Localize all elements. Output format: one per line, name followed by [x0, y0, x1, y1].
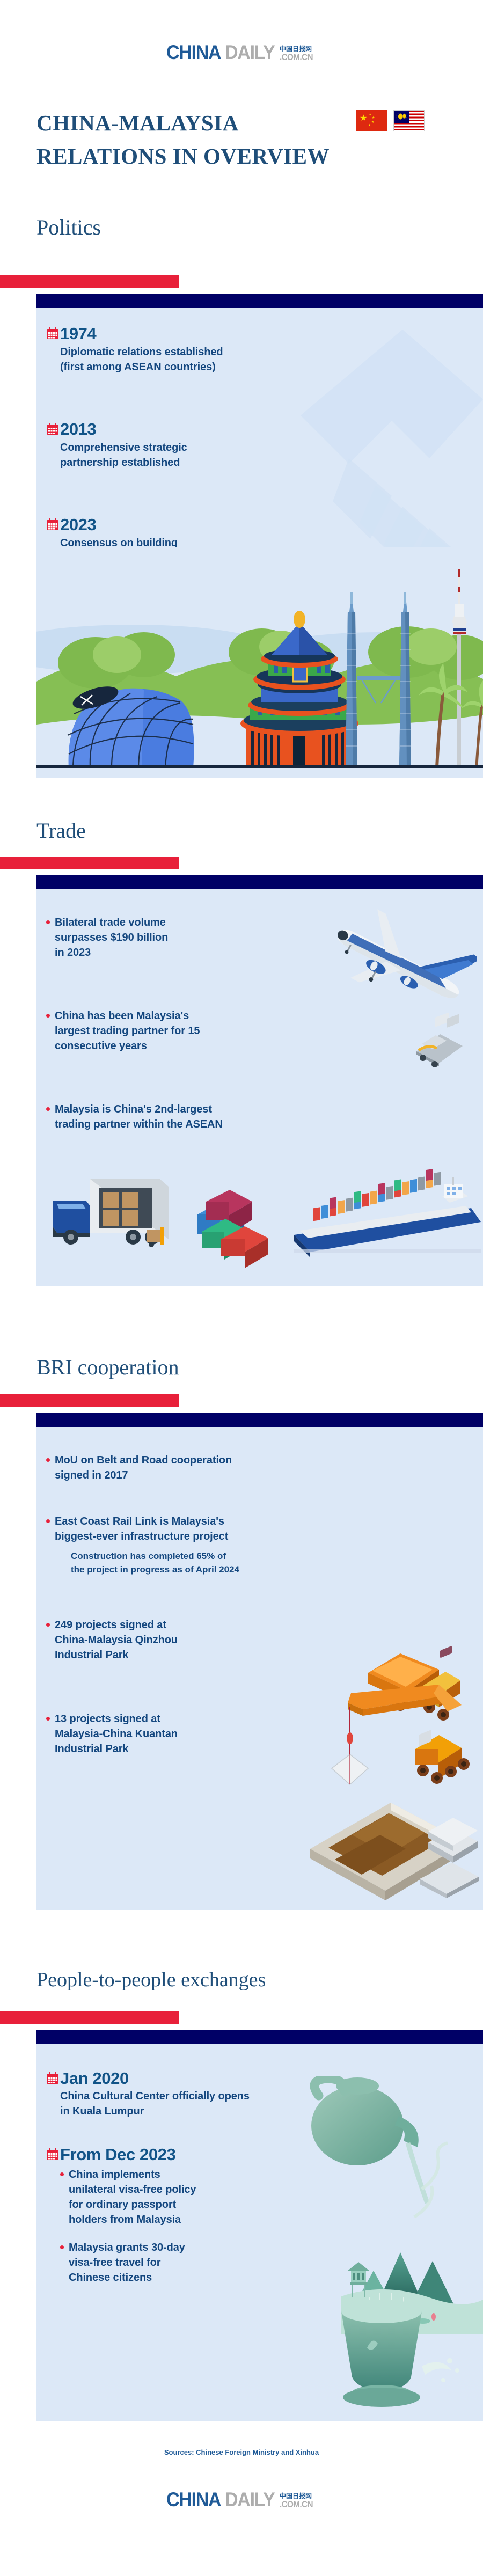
- chinadaily-logo-footer: CHINA DAILY 中国日报网 .COM.CN: [166, 2490, 317, 2509]
- bullet-line: Bilateral trade volume: [55, 915, 168, 930]
- city-skyline-illustration: [36, 547, 483, 778]
- bullet-line: Industrial Park: [55, 1648, 178, 1663]
- malaysia-flag-icon: ✹: [393, 110, 425, 131]
- bullet-row: 249 projects signed at China-Malaysia Qi…: [46, 1618, 272, 1663]
- section-heading-p2p: People-to-people exchanges: [36, 1970, 266, 1990]
- trade-bullet-1: Bilateral trade volume surpasses $190 bi…: [46, 915, 282, 960]
- construction-site-illustration: [305, 1674, 483, 1910]
- entry-year-row: 2013: [46, 421, 187, 437]
- flag-star-big: ★: [360, 114, 367, 123]
- bullet-dot-icon: [46, 1519, 50, 1523]
- logo-chinese-chars: 中国日报网: [280, 46, 312, 52]
- timeline-entry-jan-2020: Jan 2020 China Cultural Center officiall…: [46, 2070, 250, 2119]
- entry-line: in Kuala Lumpur: [60, 2104, 250, 2119]
- bullet-row: China has been Malaysia's largest tradin…: [46, 1008, 293, 1053]
- bullet-line: China implements: [69, 2167, 196, 2182]
- entry-year-label: From Dec 2023: [60, 2146, 175, 2163]
- section-heading-bri: BRI cooperation: [36, 1357, 179, 1378]
- bullet-line: MoU on Belt and Road cooperation: [55, 1453, 232, 1468]
- bullet-body: China has been Malaysia's largest tradin…: [55, 1008, 200, 1053]
- bullet-body: China implements unilateral visa-free po…: [69, 2167, 196, 2227]
- bullet-line: China has been Malaysia's: [55, 1008, 200, 1023]
- panel-p2p: Jan 2020 China Cultural Center officiall…: [36, 2044, 483, 2421]
- bullet-dot-icon: [46, 1717, 50, 1721]
- calendar-icon: [46, 422, 59, 436]
- bullet-line: trading partner within the ASEAN: [55, 1117, 223, 1132]
- section-heading-politics: Politics: [36, 217, 101, 238]
- teapot-landscape-illustration: [261, 2076, 483, 2409]
- entry-body: China Cultural Center officially opens i…: [60, 2089, 250, 2119]
- bullet-line: consecutive years: [55, 1038, 200, 1053]
- logo-daily-text: DAILY: [225, 2490, 275, 2509]
- panel-politics: 1974 Diplomatic relations established (f…: [36, 308, 483, 778]
- baggage-loader-illustration: [407, 1013, 471, 1072]
- bullet-line: Malaysia-China Kuantan: [55, 1726, 178, 1741]
- bullet-body: 249 projects signed at China-Malaysia Qi…: [55, 1618, 178, 1663]
- calendar-icon: [46, 2072, 59, 2085]
- p2p-bullet-2: Malaysia grants 30-day visa-free travel …: [60, 2240, 196, 2285]
- timeline-entry-2013: 2013 Comprehensive strategic partnership…: [46, 421, 187, 470]
- panel-trade: Bilateral trade volume surpasses $190 bi…: [36, 889, 483, 1286]
- calendar-icon: [46, 327, 59, 340]
- entry-year-label: 2023: [60, 516, 96, 533]
- entry-line: partnership established: [60, 455, 187, 470]
- trade-bullet-3: Malaysia is China's 2nd-largest trading …: [46, 1102, 325, 1132]
- masthead-logo: CHINA DAILY 中国日报网 .COM.CN: [0, 43, 483, 62]
- bullet-dot-icon: [46, 920, 50, 924]
- calendar-icon: [46, 518, 59, 531]
- bullet-line: for ordinary passport: [69, 2197, 196, 2212]
- bullet-line: biggest-ever infrastructure project: [55, 1529, 228, 1544]
- section-rule-p2p: [0, 2011, 179, 2024]
- flag-pair: ★ ★ ★ ★ ★ ✹: [356, 110, 425, 131]
- bullet-body: Bilateral trade volume surpasses $190 bi…: [55, 915, 168, 960]
- panel-bri: MoU on Belt and Road cooperation signed …: [36, 1427, 483, 1910]
- chinadaily-logo: CHINA DAILY 中国日报网 .COM.CN: [166, 43, 317, 62]
- logo-domain-text: .COM.CN: [280, 53, 313, 62]
- bullet-body: MoU on Belt and Road cooperation signed …: [55, 1453, 232, 1483]
- panel-topbar-trade: [36, 875, 483, 889]
- bullet-body: 13 projects signed at Malaysia-China Kua…: [55, 1711, 178, 1757]
- bullet-dot-icon: [46, 1623, 50, 1627]
- entry-year-row: Jan 2020: [46, 2070, 250, 2087]
- bullet-body: Malaysia grants 30-day visa-free travel …: [69, 2240, 185, 2285]
- flag-star-small-3: ★: [371, 121, 374, 124]
- bullet-row: Bilateral trade volume surpasses $190 bi…: [46, 915, 282, 960]
- entry-year-label: Jan 2020: [60, 2070, 129, 2087]
- flag-star-small-1: ★: [369, 113, 371, 116]
- bullet-dot-icon: [46, 1107, 50, 1111]
- bullet-dot-icon: [60, 2172, 64, 2176]
- china-flag-icon: ★ ★ ★ ★ ★: [356, 110, 387, 131]
- page-title-line-2: RELATIONS IN OVERVIEW: [36, 140, 466, 173]
- bullet-row: 13 projects signed at Malaysia-China Kua…: [46, 1711, 282, 1757]
- bullet-line: Malaysia grants 30-day: [69, 2240, 185, 2255]
- flag-star-icon: ✹: [401, 113, 407, 120]
- section-rule-politics: [0, 275, 179, 288]
- infographic-page: CHINA DAILY 中国日报网 .COM.CN CHINA-MALAYSIA…: [0, 0, 483, 2576]
- bullet-row: MoU on Belt and Road cooperation signed …: [46, 1453, 347, 1483]
- bullet-line: in 2023: [55, 945, 168, 960]
- bullet-line: East Coast Rail Link is Malaysia's: [55, 1514, 228, 1529]
- entry-line: China Cultural Center officially opens: [60, 2089, 250, 2104]
- section-heading-trade: Trade: [36, 820, 86, 841]
- bullet-dot-icon: [46, 1014, 50, 1018]
- entry-year-label: 2013: [60, 421, 96, 437]
- entry-body: Comprehensive strategic partnership esta…: [60, 440, 187, 470]
- entry-body: Diplomatic relations established (first …: [60, 345, 223, 375]
- sources-note: Sources: Chinese Foreign Ministry and Xi…: [0, 2448, 483, 2456]
- panel-topbar-bri: [36, 1413, 483, 1427]
- bullet-line: 13 projects signed at: [55, 1711, 178, 1726]
- panel-topbar-politics: [36, 294, 483, 308]
- bullet-row: Malaysia grants 30-day visa-free travel …: [60, 2240, 196, 2285]
- bullet-body: Malaysia is China's 2nd-largest trading …: [55, 1102, 223, 1132]
- bullet-line: 249 projects signed at: [55, 1618, 178, 1633]
- bullet-line: surpasses $190 billion: [55, 930, 168, 945]
- subnote-line: the project in progress as of April 2024: [71, 1563, 357, 1576]
- calendar-icon: [46, 2148, 59, 2161]
- bullet-line: visa-free travel for: [69, 2255, 185, 2270]
- logo-suffix: 中国日报网 .COM.CN: [280, 2493, 317, 2509]
- bullet-line: largest trading partner for 15: [55, 1023, 200, 1038]
- bullet-row: China implements unilateral visa-free po…: [60, 2167, 196, 2227]
- bullet-dot-icon: [60, 2245, 64, 2249]
- bri-subnote: Construction has completed 65% of the pr…: [71, 1549, 357, 1576]
- panel-topbar-p2p: [36, 2030, 483, 2044]
- timeline-entry-1974: 1974 Diplomatic relations established (f…: [46, 325, 223, 375]
- entry-line: Diplomatic relations established: [60, 345, 223, 360]
- entry-year-row: 2023: [46, 516, 230, 533]
- logo-daily-text: DAILY: [225, 43, 275, 62]
- trade-bullet-2: China has been Malaysia's largest tradin…: [46, 1008, 293, 1053]
- subnote-line: Construction has completed 65% of: [71, 1549, 357, 1563]
- bullet-line: Chinese citizens: [69, 2270, 185, 2285]
- cargo-illustration: [42, 1147, 483, 1281]
- bullet-line: unilateral visa-free policy: [69, 2182, 196, 2197]
- bri-bullet-4: 13 projects signed at Malaysia-China Kua…: [46, 1711, 282, 1757]
- bullet-dot-icon: [46, 1458, 50, 1462]
- p2p-bullet-1: China implements unilateral visa-free po…: [60, 2167, 196, 2227]
- timeline-entry-from-dec-2023: From Dec 2023 China implements unilatera…: [46, 2146, 196, 2285]
- section-rule-trade: [0, 857, 179, 869]
- logo-china-text: CHINA: [166, 43, 221, 62]
- bullet-line: signed in 2017: [55, 1468, 232, 1483]
- entry-year-row: From Dec 2023: [46, 2146, 196, 2163]
- bullet-row: East Coast Rail Link is Malaysia's bigge…: [46, 1514, 357, 1544]
- logo-chinese-chars: 中国日报网: [280, 2493, 312, 2499]
- flag-star-small-2: ★: [372, 116, 375, 120]
- logo-china-text: CHINA: [166, 2490, 221, 2509]
- bullet-row: Malaysia is China's 2nd-largest trading …: [46, 1102, 325, 1132]
- entry-line: (first among ASEAN countries): [60, 360, 223, 375]
- entry-line: Comprehensive strategic: [60, 440, 187, 455]
- entry-year-label: 1974: [60, 325, 96, 342]
- entry-year-row: 1974: [46, 325, 223, 342]
- flag-star-small-4: ★: [368, 124, 371, 127]
- bri-bullet-3: 249 projects signed at China-Malaysia Qi…: [46, 1618, 272, 1663]
- bri-bullet-1: MoU on Belt and Road cooperation signed …: [46, 1453, 347, 1483]
- bullet-line: holders from Malaysia: [69, 2212, 196, 2227]
- section-rule-bri: [0, 1394, 179, 1407]
- bullet-line: Malaysia is China's 2nd-largest: [55, 1102, 223, 1117]
- bullet-line: China-Malaysia Qinzhou: [55, 1633, 178, 1648]
- bullet-body: East Coast Rail Link is Malaysia's bigge…: [55, 1514, 228, 1544]
- logo-domain-text: .COM.CN: [280, 2500, 313, 2509]
- logo-suffix: 中国日报网 .COM.CN: [280, 46, 317, 62]
- footer-logo: CHINA DAILY 中国日报网 .COM.CN: [0, 2490, 483, 2509]
- bri-bullet-2: East Coast Rail Link is Malaysia's bigge…: [46, 1514, 357, 1576]
- airplane-illustration: [316, 906, 477, 1024]
- bullet-line: Industrial Park: [55, 1741, 178, 1757]
